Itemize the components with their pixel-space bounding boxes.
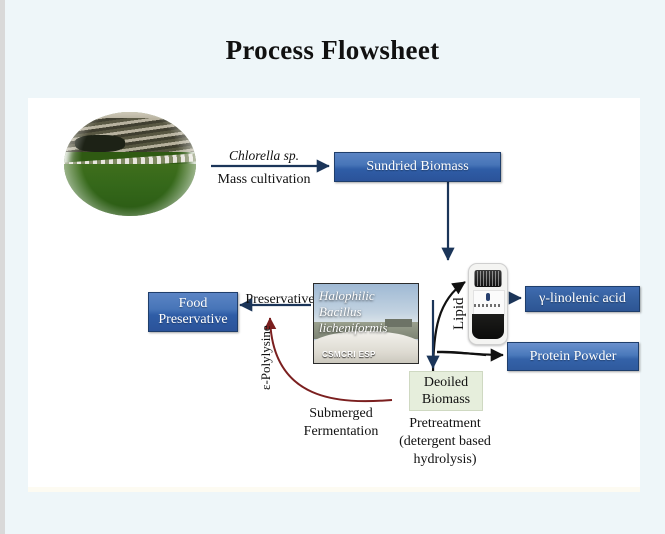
box-food-preservative[interactable]: Food Preservative [148, 292, 238, 332]
label-lipid: Lipid [451, 298, 468, 331]
left-edge-strip [0, 0, 5, 534]
bacteria-name-line-1: Halophilic [319, 288, 415, 304]
pretreat-line-2: (detergent based [381, 433, 509, 451]
label-preservative: Preservative [236, 292, 324, 308]
food-preservative-line-1: Food [158, 296, 227, 312]
box-sundried-biomass[interactable]: Sundried Biomass [334, 152, 501, 182]
card-footer-line [28, 487, 640, 492]
bottle-label-text [474, 304, 501, 307]
page-background: Process Flowsheet [0, 0, 665, 534]
saltpan-basin [313, 331, 419, 364]
algae-pond-photo [64, 112, 196, 216]
bottle-logo [486, 293, 491, 301]
label-chlorella-sp: Chlorella sp. [209, 148, 319, 164]
deoiled-line-2: Biomass [422, 391, 470, 408]
label-epsilon-polylysine: ε-Polylysine [258, 325, 274, 390]
food-preservative-line-2: Preservative [158, 312, 227, 328]
right-edge-strip [660, 0, 665, 534]
bacteria-saltpan-photo: Halophilic Bacillus licheniformis CSMCRI… [313, 283, 419, 364]
deoiled-line-1: Deoiled [422, 374, 470, 391]
box-deoiled-biomass[interactable]: Deoiled Biomass [409, 371, 483, 411]
box-gamma-linolenic-acid[interactable]: γ-linolenic acid [525, 286, 640, 312]
box-protein-powder[interactable]: Protein Powder [507, 342, 639, 371]
pond-vignette [64, 112, 196, 216]
bottle-body [472, 314, 504, 340]
photo-watermark: CSMCRI ESP [322, 350, 376, 359]
bacteria-name: Halophilic Bacillus licheniformis [319, 288, 415, 336]
label-pretreatment: Pretreatment (detergent based hydrolysis… [381, 415, 509, 469]
bacteria-name-line-2: Bacillus [319, 304, 415, 320]
bottle-cap-ridges [474, 271, 501, 285]
pretreat-line-3: hydrolysis) [381, 451, 509, 469]
label-mass-cultivation: Mass cultivation [200, 172, 328, 188]
pretreat-line-1: Pretreatment [381, 415, 509, 433]
bacteria-name-line-3: licheniformis [319, 320, 415, 336]
product-bottle-photo [468, 263, 508, 345]
page-title: Process Flowsheet [0, 35, 665, 66]
